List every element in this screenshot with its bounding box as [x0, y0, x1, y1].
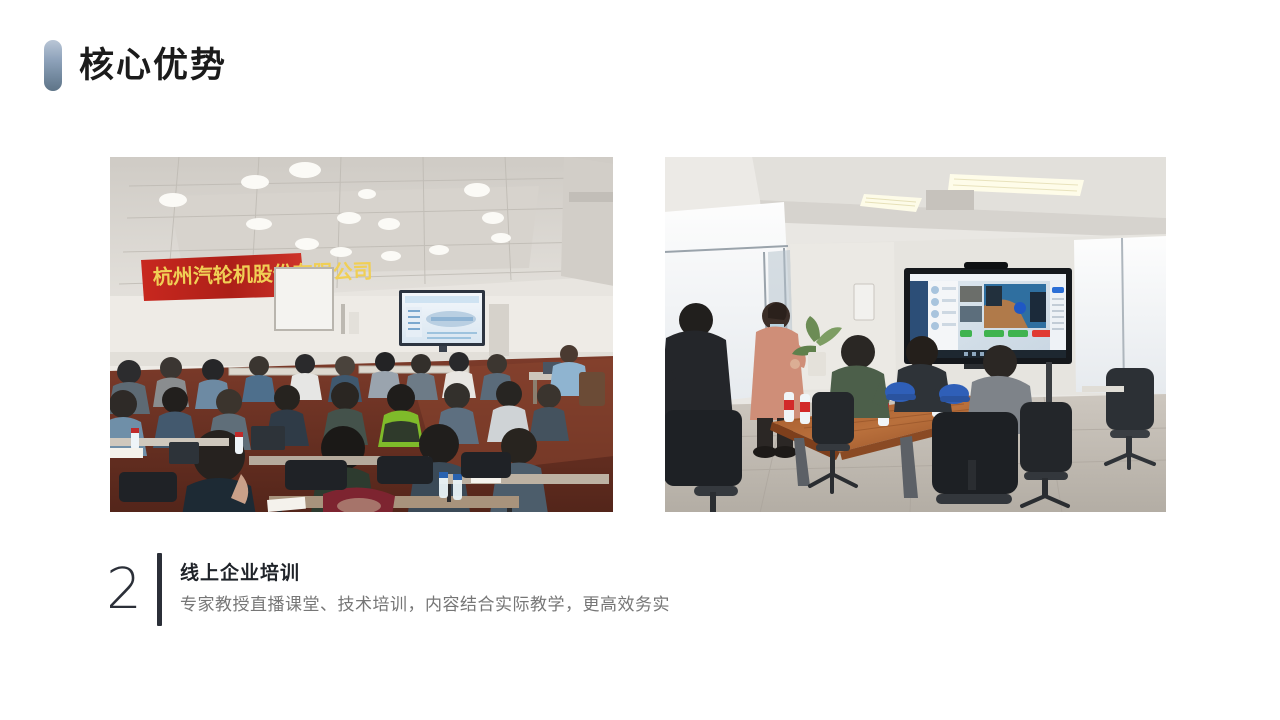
- classroom-training-photo: 杭州汽轮机股份有限公司: [109, 156, 614, 513]
- caption-block: 2 线上企业培训 专家教授直播课堂、技术培训，内容结合实际教学，更高效务实: [100, 548, 670, 632]
- online-meeting-room-photo: [664, 156, 1167, 513]
- classroom-training-illustration: 杭州汽轮机股份有限公司: [109, 156, 614, 513]
- online-meeting-illustration: [664, 156, 1167, 513]
- page-title: 核心优势: [44, 40, 227, 91]
- caption-text-group: 线上企业培训 专家教授直播课堂、技术培训，内容结合实际教学，更高效务实: [162, 548, 670, 632]
- caption-number: 2: [100, 548, 148, 632]
- page-title-text: 核心优势: [79, 48, 227, 83]
- caption-subtitle: 专家教授直播课堂、技术培训，内容结合实际教学，更高效务实: [180, 589, 670, 621]
- pill-bullet-icon: [44, 40, 62, 91]
- caption-heading: 线上企业培训: [180, 559, 670, 589]
- slide-canvas: 核心优势: [0, 0, 1280, 720]
